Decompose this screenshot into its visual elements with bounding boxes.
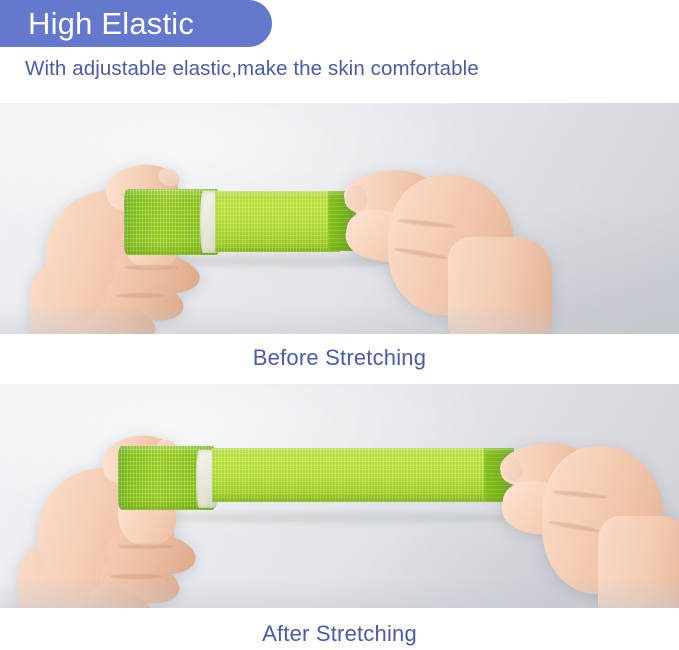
left-knuckle-crease-2 (116, 293, 166, 298)
photo-after-stretching (0, 384, 679, 608)
caption-after-stretching: After Stretching (0, 621, 679, 647)
tape-strip-after (212, 448, 490, 502)
right-wrist-2 (598, 516, 679, 608)
left-knuckle-crease-1 (124, 265, 178, 270)
left-knuckle-crease-4 (110, 574, 162, 579)
right-hand-2 (498, 432, 678, 608)
badge-label: High Elastic (28, 8, 194, 39)
left-knuckle-crease-3 (118, 544, 174, 549)
header-block: High Elastic With adjustable elastic,mak… (0, 0, 679, 100)
header-subtitle: With adjustable elastic,make the skin co… (25, 57, 479, 81)
right-hand (340, 159, 550, 334)
caption-before-stretching: Before Stretching (0, 345, 679, 371)
photo-before-stretching (0, 103, 679, 334)
right-wrist (448, 237, 552, 334)
tape-strip-before (215, 191, 340, 252)
high-elastic-badge: High Elastic (0, 0, 272, 47)
